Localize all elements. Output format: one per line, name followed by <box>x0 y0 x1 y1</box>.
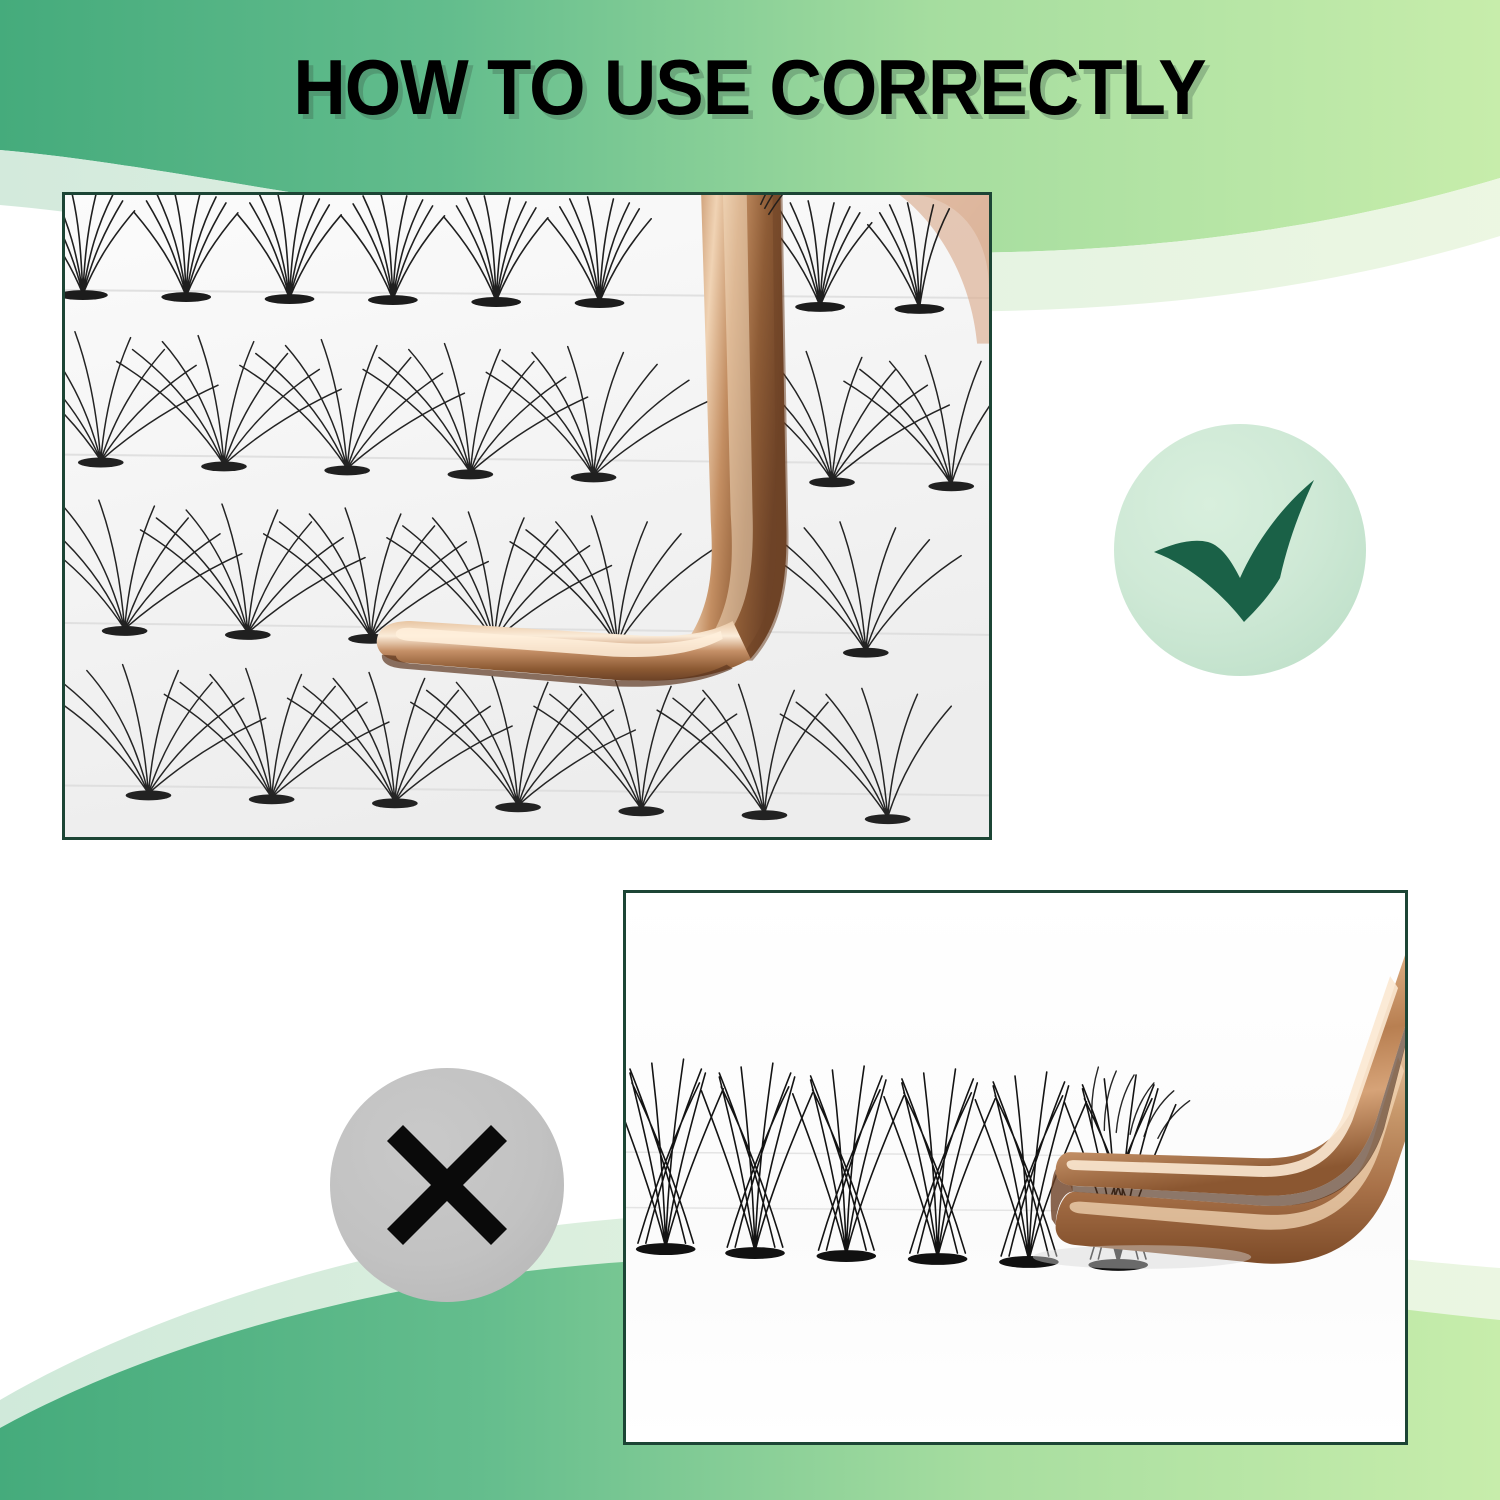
page-title: HOW TO USE CORRECTLY <box>294 48 1206 126</box>
cross-icon <box>381 1119 513 1251</box>
correct-badge <box>1114 424 1366 676</box>
correct-usage-photo <box>62 192 992 840</box>
poster-canvas: HOW TO USE CORRECTLY <box>0 0 1500 1500</box>
lash-side-illustration <box>626 893 1405 1442</box>
incorrect-usage-photo <box>623 890 1408 1445</box>
check-icon <box>1150 470 1330 630</box>
page-title-container: HOW TO USE CORRECTLY <box>0 48 1500 126</box>
incorrect-badge <box>330 1068 564 1302</box>
lash-tray-illustration <box>65 195 989 837</box>
